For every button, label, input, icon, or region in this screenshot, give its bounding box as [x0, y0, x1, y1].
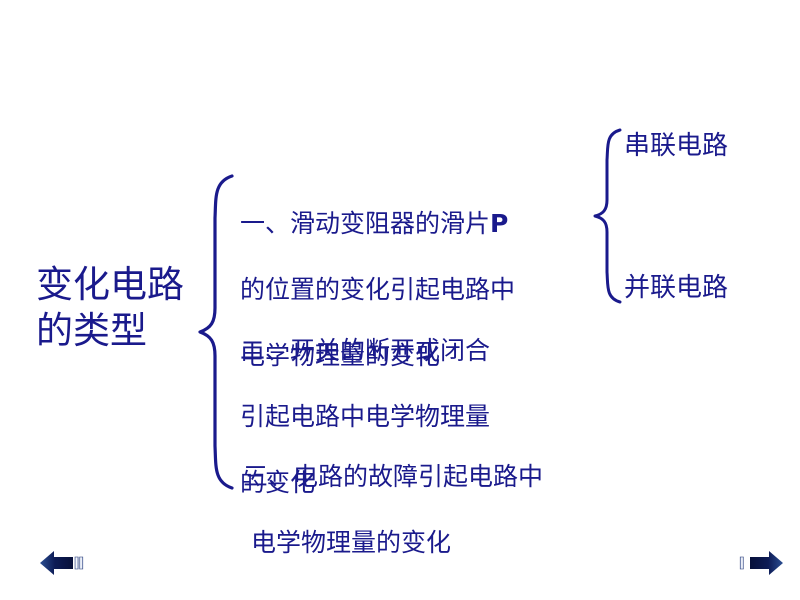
previous-slide-button[interactable] [40, 550, 86, 576]
branch-item-3: 三、电路的故障引起电路中 电学物理量的变化 [243, 427, 588, 592]
branch-3-line-1: 三、电路的故障引起电路中 [243, 462, 543, 491]
branch-3-line-2: 电学物理量的变化 [243, 526, 588, 559]
right-curly-brace-icon [592, 126, 626, 306]
branch-1-line-2: 的位置的变化引起电路中 [240, 275, 515, 304]
leaf-label-series-circuit: 串联电路 [624, 130, 728, 162]
branch-1-line-1-text: 一、滑动变阻器的滑片 [240, 209, 490, 238]
slide-canvas: 变化电路 的类型 一、滑动变阻器的滑片P 的位置的变化引起电路中 电学物理量的变… [0, 0, 800, 600]
branch-1-line-1: 一、滑动变阻器的滑片P [240, 209, 508, 238]
leaf-label-parallel-circuit: 并联电路 [624, 272, 728, 304]
main-curly-brace-icon [196, 172, 240, 492]
branch-2-line-1: 二、开关的断开或闭合 [240, 336, 490, 365]
next-slide-button[interactable] [737, 550, 783, 576]
slider-p-label: P [490, 209, 508, 238]
left-arrow-icon [40, 550, 86, 576]
right-arrow-icon [737, 550, 783, 576]
